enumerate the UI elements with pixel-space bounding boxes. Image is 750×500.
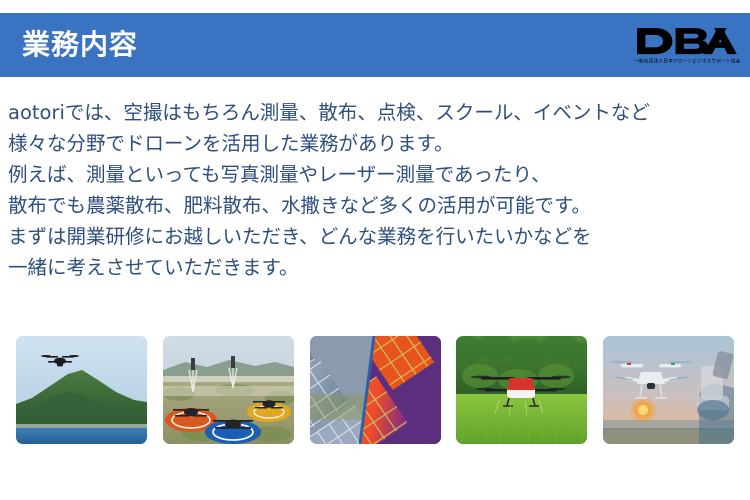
photo-solar-panel-thermal-inspection[interactable]: [310, 336, 441, 444]
photo-agricultural-spraying-drone[interactable]: [456, 336, 587, 444]
dba-logo: 一般社団法人日本ドローンビジネスサポート協会: [632, 21, 742, 67]
photo-drones-on-landing-pads[interactable]: [163, 336, 294, 444]
body-line-2: 様々な分野でドローンを活用した業務があります。: [8, 128, 748, 159]
photo-drone-over-sea-and-mountain[interactable]: [16, 336, 147, 444]
page-title: 業務内容: [22, 31, 138, 59]
body-line-5: まずは開業研修にお越しいただき、どんな業務を行いたいかなどを: [8, 221, 748, 252]
photo-drone-at-sunset-with-controller[interactable]: [603, 336, 734, 444]
body-line-3: 例えば、測量といっても写真測量やレーザー測量であったり、: [8, 159, 748, 190]
body-paragraph: aotoriでは、空撮はもちろん測量、散布、点検、スクール、イベントなど 様々な…: [8, 97, 748, 283]
body-line-4: 散布でも農薬散布、肥料散布、水撒きなど多くの活用が可能です。: [8, 190, 748, 221]
photo-strip: [0, 336, 750, 446]
logo-subtitle: 一般社団法人日本ドローンビジネスサポート協会: [634, 57, 740, 64]
dba-wordmark-icon: [635, 26, 739, 56]
body-line-1: aotoriでは、空撮はもちろん測量、散布、点検、スクール、イベントなど: [8, 97, 748, 128]
body-line-6: 一緒に考えさせていただきます。: [8, 252, 748, 283]
